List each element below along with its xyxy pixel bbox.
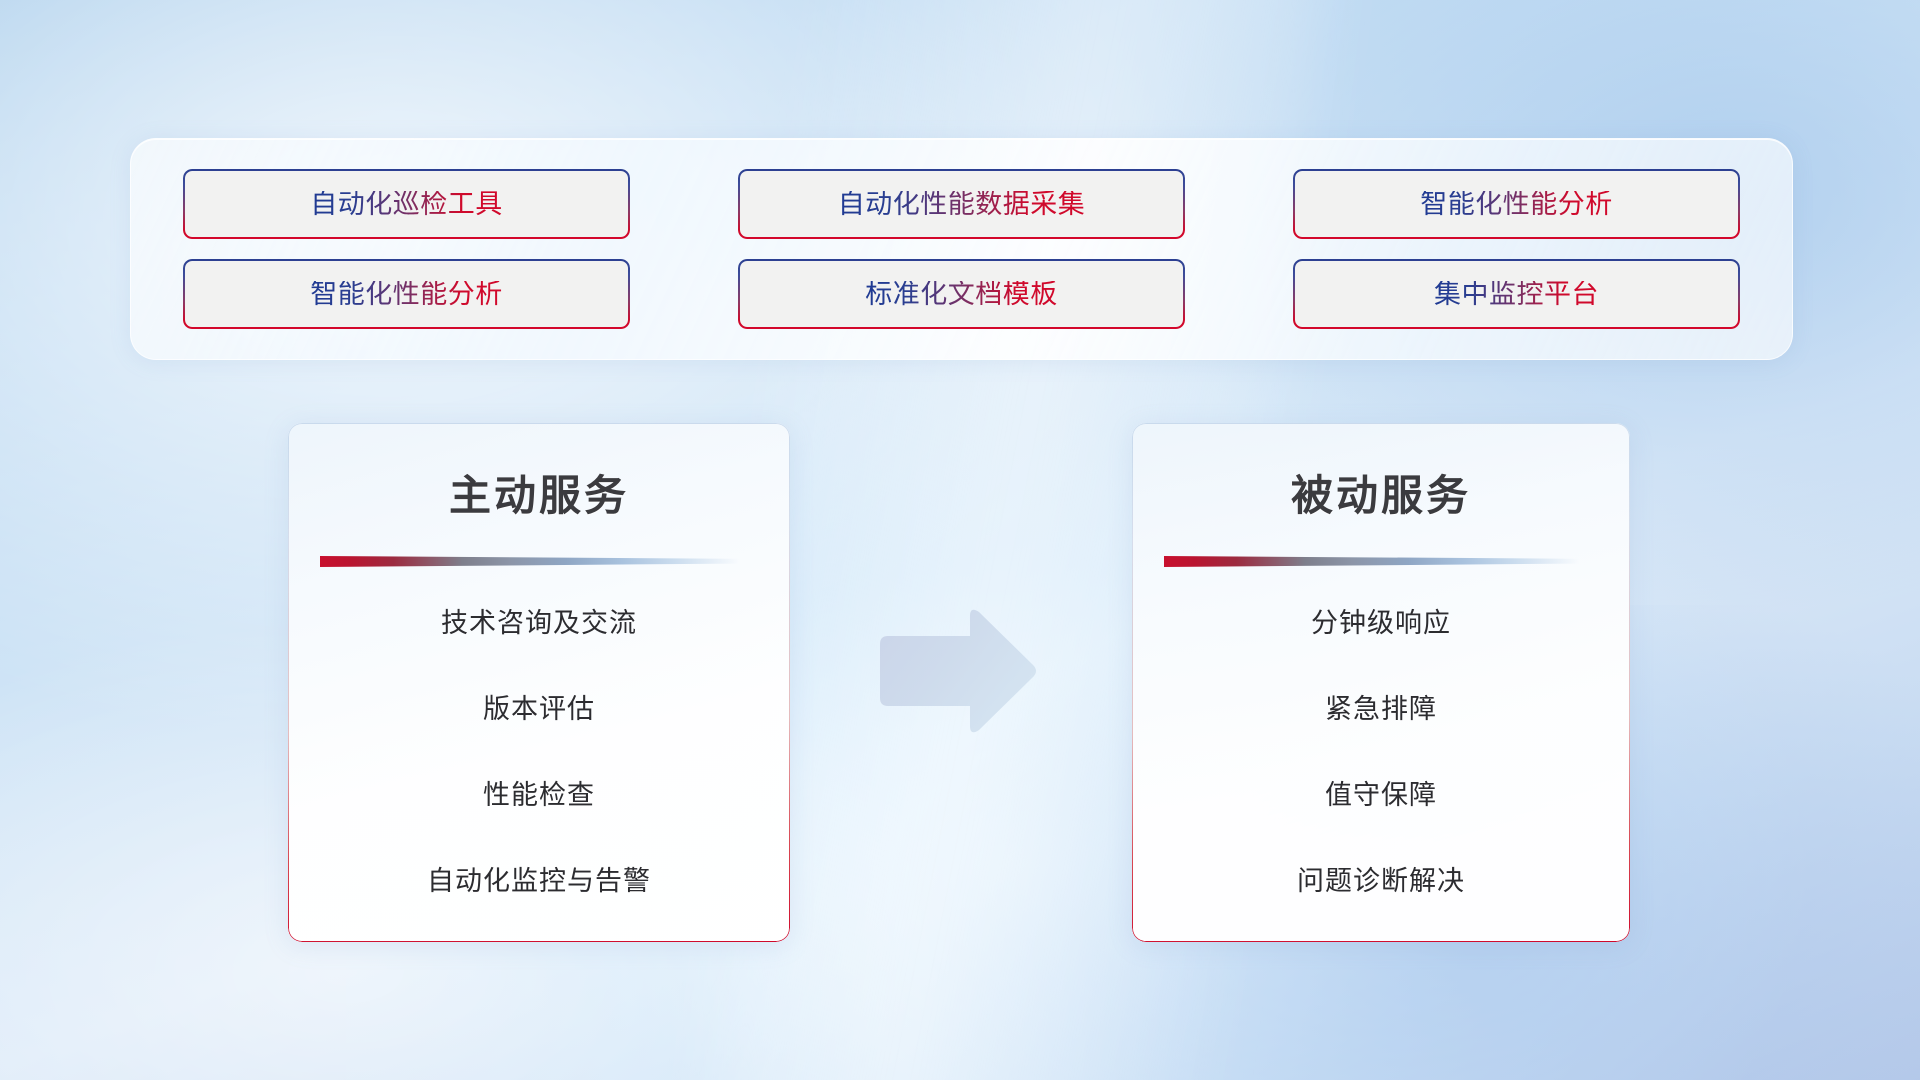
card-divider — [1164, 556, 1592, 568]
capability-chips-panel: 自动化巡检工具 自动化性能数据采集 智能化性能分析 智能化性能分析 标准化文档模… — [130, 138, 1793, 360]
capability-chip-standardized-document-template[interactable]: 标准化文档模板 — [738, 259, 1185, 329]
chip-label: 标准化文档模板 — [865, 281, 1058, 308]
card-divider-bar — [1164, 556, 1592, 567]
list-item: 分钟级响应 — [1132, 610, 1630, 637]
card-title: 主动服务 — [288, 462, 790, 523]
arrow-right-icon — [872, 602, 1042, 742]
capability-chip-intelligent-performance-analysis-2[interactable]: 智能化性能分析 — [183, 259, 630, 329]
card-divider — [320, 556, 752, 568]
chip-label: 智能化性能分析 — [1420, 191, 1613, 218]
list-item: 问题诊断解决 — [1132, 868, 1630, 895]
chip-label: 智能化性能分析 — [310, 281, 503, 308]
list-item: 紧急排障 — [1132, 696, 1630, 723]
chip-label: 自动化性能数据采集 — [838, 191, 1086, 218]
list-item: 技术咨询及交流 — [288, 610, 790, 637]
list-item: 自动化监控与告警 — [288, 868, 790, 895]
service-item-list: 技术咨询及交流 版本评估 性能检查 自动化监控与告警 健康巡检 — [288, 610, 790, 942]
service-card-proactive: 主动服务 技术咨询及交流 版本评估 性能检查 自动化监控与告警 健康巡检 — [288, 423, 790, 942]
capability-chip-automated-performance-data-collection[interactable]: 自动化性能数据采集 — [738, 169, 1185, 239]
capability-chip-automated-inspection-tool[interactable]: 自动化巡检工具 — [183, 169, 630, 239]
capability-chip-intelligent-performance-analysis-1[interactable]: 智能化性能分析 — [1293, 169, 1740, 239]
list-item: 版本评估 — [288, 696, 790, 723]
chip-label: 集中监控平台 — [1434, 281, 1599, 308]
chip-label: 自动化巡检工具 — [310, 191, 503, 218]
capability-chip-grid: 自动化巡检工具 自动化性能数据采集 智能化性能分析 智能化性能分析 标准化文档模… — [183, 169, 1740, 329]
card-divider-bar — [320, 556, 752, 567]
list-item: 性能检查 — [288, 782, 790, 809]
list-item: 值守保障 — [1132, 782, 1630, 809]
card-title: 被动服务 — [1132, 462, 1630, 523]
capability-chip-centralized-monitoring-platform[interactable]: 集中监控平台 — [1293, 259, 1740, 329]
service-item-list: 分钟级响应 紧急排障 值守保障 问题诊断解决 SLA式服务 — [1132, 610, 1630, 942]
service-card-reactive: 被动服务 分钟级响应 紧急排障 值守保障 问题诊断解决 SLA式服务 — [1132, 423, 1630, 942]
